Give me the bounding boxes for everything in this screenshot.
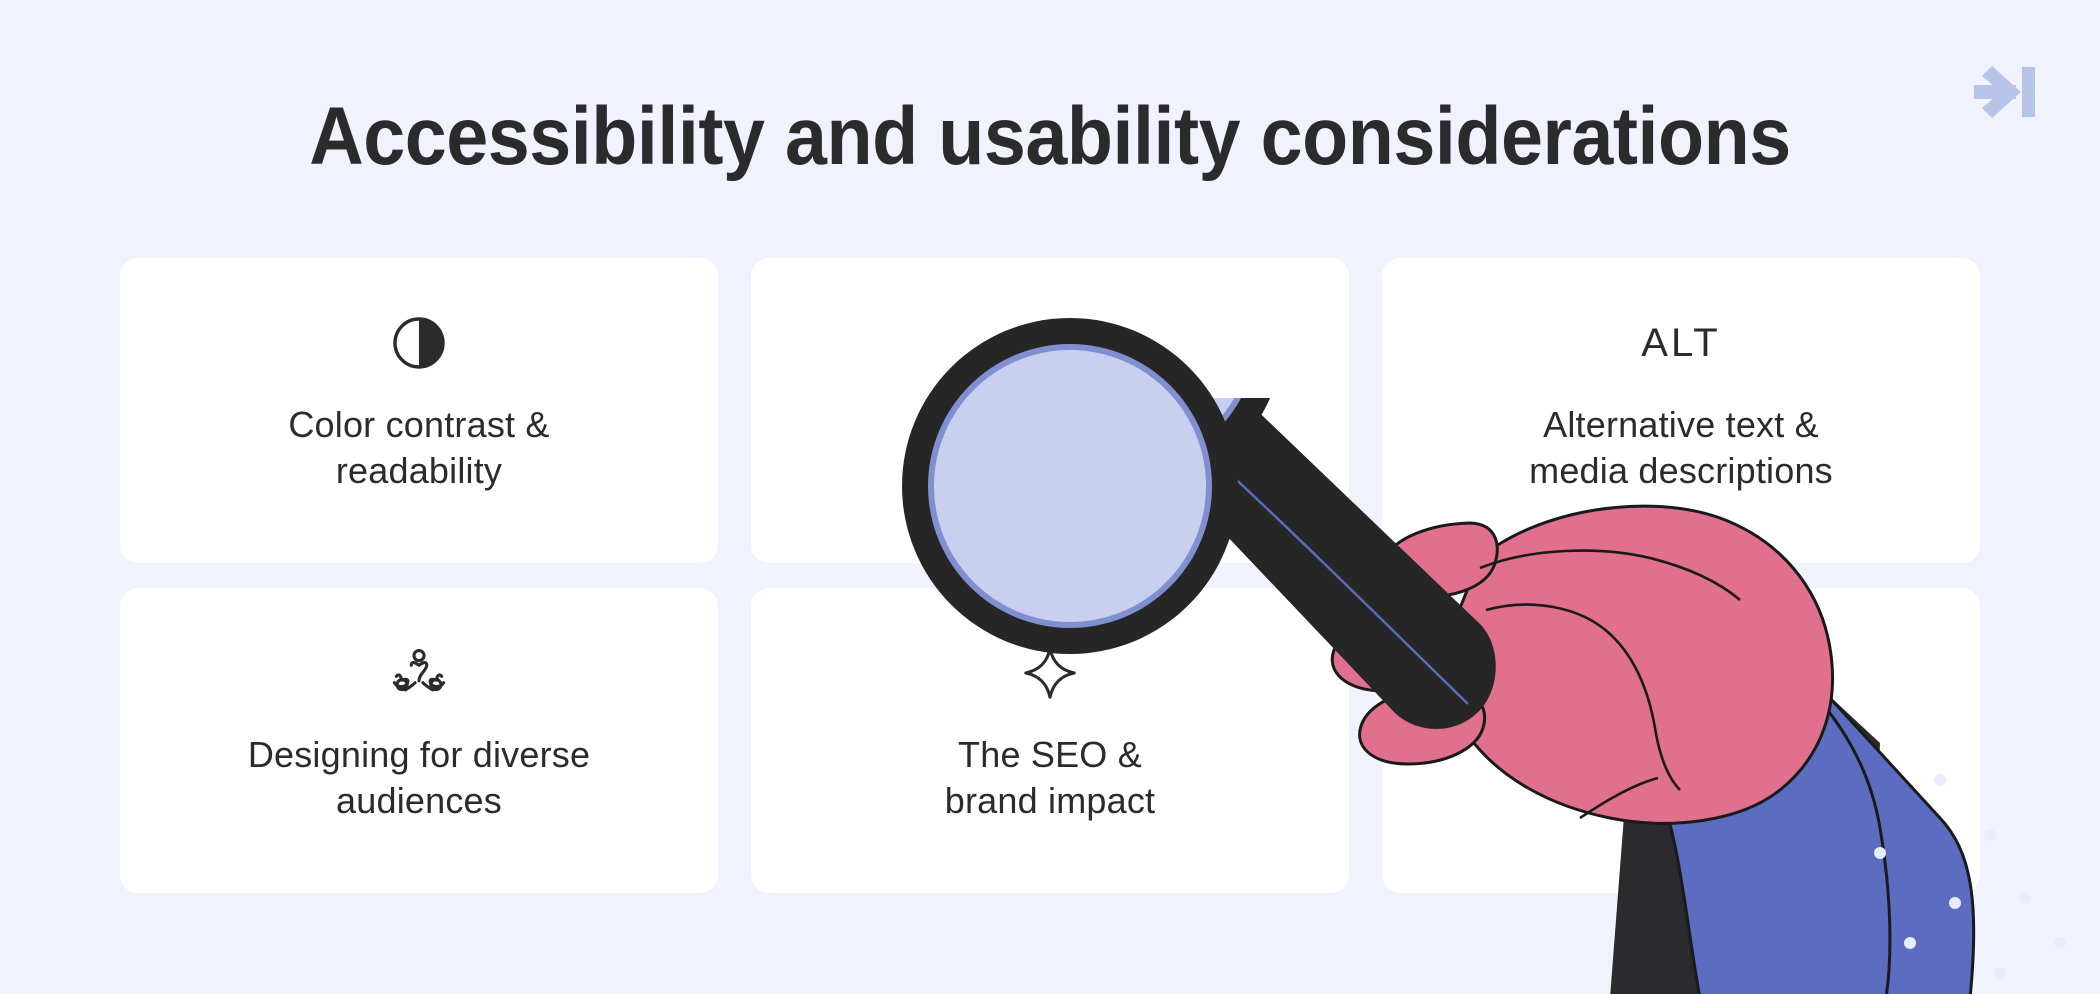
- sparkle-star-icon: [1021, 640, 1079, 706]
- alt-text-glyph: ALT: [1641, 323, 1720, 363]
- alt-text-icon: ALT: [1641, 310, 1720, 376]
- card-diverse-audiences[interactable]: Designing for diverse audiences: [120, 588, 718, 893]
- card-label: Alternative text & media descriptions: [1507, 402, 1855, 494]
- card-keyboard-navigation[interactable]: Keyboard navigation: [751, 258, 1349, 563]
- page-title: Accessibility and usability consideratio…: [84, 96, 2016, 178]
- slide-root: Accessibility and usability consideratio…: [0, 0, 2100, 994]
- card-label: The SEO & brand impact: [923, 732, 1178, 824]
- card-alternative-text[interactable]: ALT Alternative text & media description…: [1382, 258, 1980, 563]
- card-empty: [1382, 588, 1980, 893]
- card-color-contrast[interactable]: Color contrast & readability: [120, 258, 718, 563]
- card-label: Keyboard navigation: [945, 402, 1155, 494]
- people-group-icon: [390, 640, 448, 706]
- contrast-icon: [391, 310, 447, 376]
- card-seo-brand-impact[interactable]: The SEO & brand impact: [751, 588, 1349, 893]
- card-label: Designing for diverse audiences: [226, 732, 612, 824]
- features-grid: Color contrast & readability: [120, 258, 1980, 893]
- card-label: Color contrast & readability: [266, 402, 571, 494]
- arrows-move-icon: [1020, 310, 1080, 376]
